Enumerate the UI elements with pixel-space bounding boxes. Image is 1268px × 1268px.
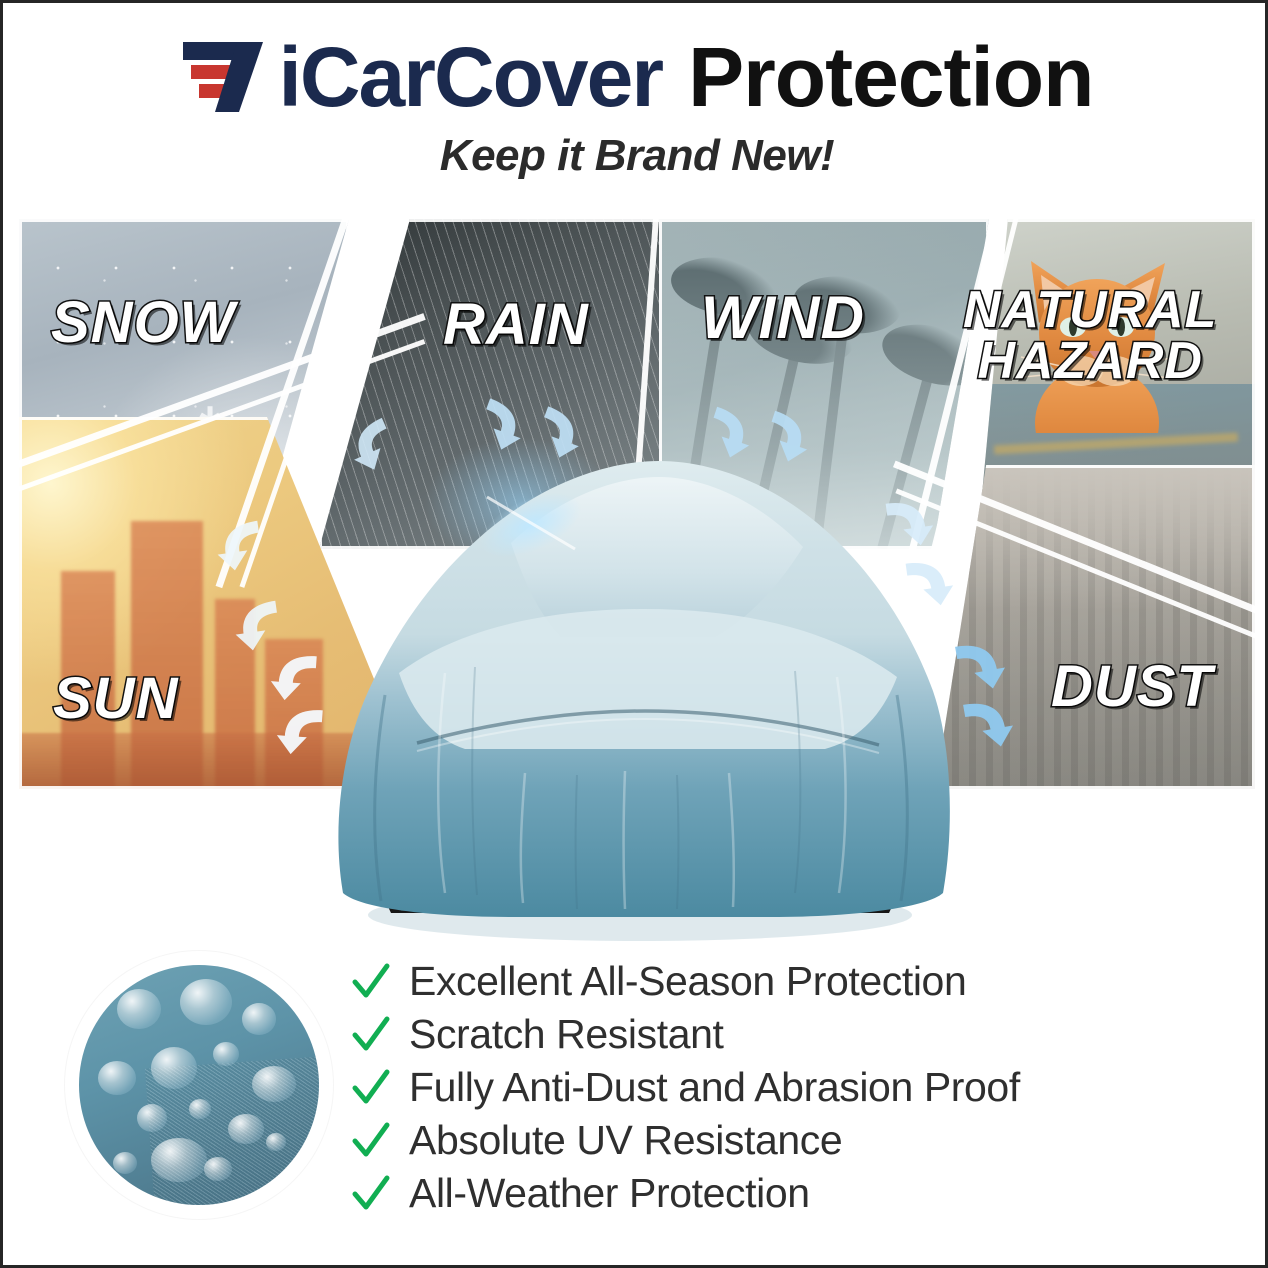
icarcover-logo-icon — [181, 38, 277, 116]
checkmark-icon — [351, 1121, 391, 1161]
label-snow: SNOW — [51, 295, 235, 352]
feature-text: Scratch Resistant — [409, 1014, 724, 1055]
water-bead — [180, 979, 232, 1025]
water-bead — [113, 1152, 137, 1174]
label-dust: DUST — [1051, 659, 1213, 716]
deflection-arrow-icon — [267, 649, 327, 712]
water-bead — [98, 1061, 136, 1095]
feature-item: Absolute UV Resistance — [351, 1114, 1211, 1167]
water-bead — [137, 1104, 167, 1132]
feature-list: Excellent All-Season Protection Scratch … — [351, 955, 1211, 1220]
water-bead — [151, 1138, 207, 1182]
water-bead — [204, 1157, 232, 1181]
brand-lockup: iCarCover Protection — [3, 29, 1268, 125]
deflection-arrow-icon — [211, 515, 275, 581]
feature-text: Absolute UV Resistance — [409, 1120, 842, 1161]
infographic-page: iCarCover Protection Keep it Brand New! … — [0, 0, 1268, 1268]
deflection-arrow-icon — [952, 692, 1020, 762]
deflection-arrow-icon — [273, 703, 333, 766]
water-bead — [117, 989, 161, 1029]
brand-name: iCarCover — [279, 35, 663, 119]
label-sun: SUN — [53, 671, 178, 728]
water-bead — [213, 1042, 239, 1066]
checkmark-icon — [351, 1015, 391, 1055]
feature-item: Excellent All-Season Protection — [351, 955, 1211, 1008]
water-bead — [228, 1114, 264, 1144]
checkmark-icon — [351, 1174, 391, 1214]
water-bead — [242, 1003, 276, 1035]
feature-item: Scratch Resistant — [351, 1008, 1211, 1061]
feature-text: All-Weather Protection — [409, 1173, 810, 1214]
swatch-image — [79, 965, 319, 1205]
label-wind: WIND — [701, 289, 865, 348]
feature-item: Fully Anti-Dust and Abrasion Proof — [351, 1061, 1211, 1114]
tagline: Keep it Brand New! — [3, 131, 1268, 181]
feature-item: All-Weather Protection — [351, 1167, 1211, 1220]
checkmark-icon — [351, 1068, 391, 1108]
benefits-section: Excellent All-Season Protection Scratch … — [3, 933, 1268, 1263]
label-rain: RAIN — [443, 297, 589, 354]
water-bead — [151, 1047, 197, 1089]
feature-text: Fully Anti-Dust and Abrasion Proof — [409, 1067, 1020, 1108]
checkmark-icon — [351, 962, 391, 1002]
water-bead — [252, 1066, 296, 1102]
covered-car-image — [325, 423, 955, 953]
brand-suffix: Protection — [688, 35, 1093, 119]
label-natural-hazard: NATURAL HAZARD — [963, 285, 1217, 387]
water-beading-swatch — [65, 951, 333, 1219]
header: iCarCover Protection Keep it Brand New! — [3, 29, 1268, 181]
feature-text: Excellent All-Season Protection — [409, 961, 966, 1002]
